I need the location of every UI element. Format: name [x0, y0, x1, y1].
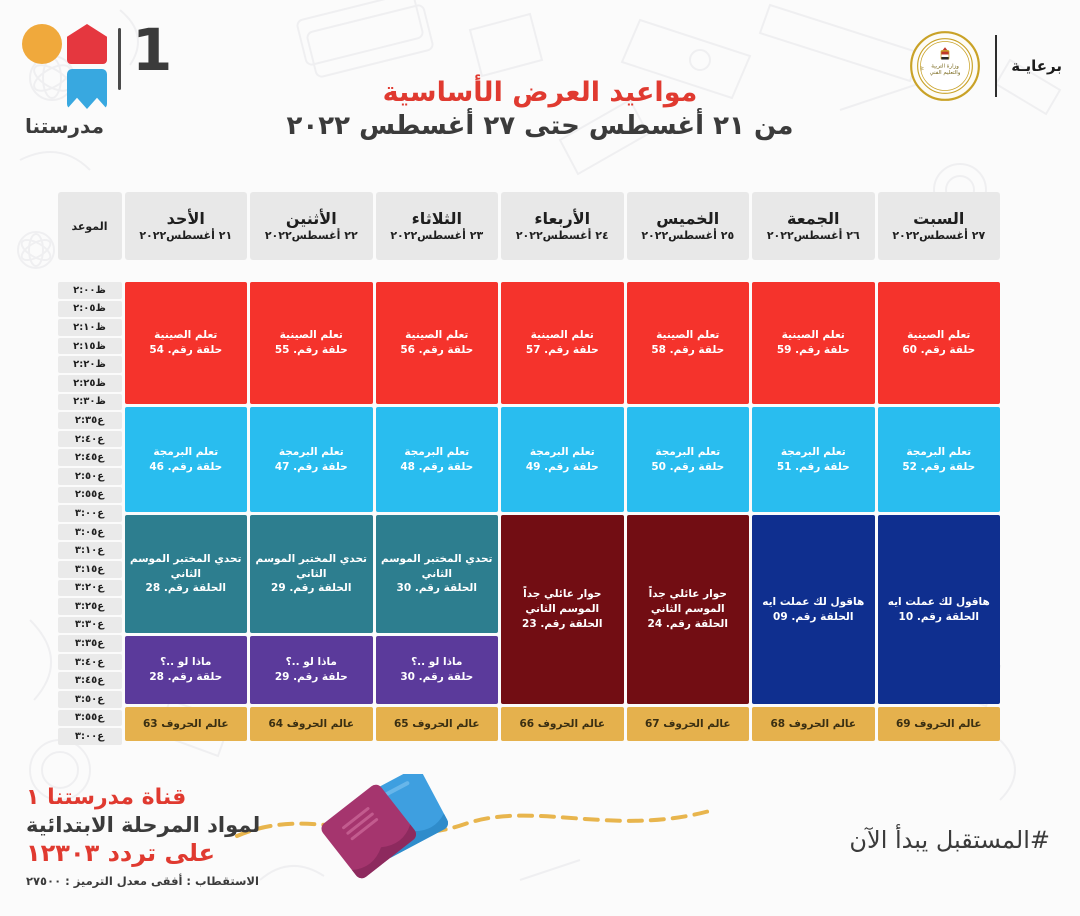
program-cell[interactable]: ماذا لو ..؟حلقة رقم. 30 — [376, 636, 499, 704]
program-title: تحدي المختبر الموسم الثاني — [380, 552, 495, 582]
program-cell[interactable]: حوار عائلي جداً الموسم الثانيالحلقة رقم.… — [501, 515, 624, 704]
program-episode: الحلقة رقم. 30 — [397, 581, 477, 596]
program-title: تعلم البرمجة — [655, 445, 720, 460]
program-title: تعلم الصينية — [656, 328, 719, 343]
page-footer: #المستقبل يبدأ الآن قناة مدرستنا ١ لمواد… — [0, 766, 1080, 916]
day-name: الثلاثاء — [412, 211, 462, 228]
time-slot: ع٢:٤٥ — [58, 449, 122, 466]
time-slot: ع٣:٠٠ — [58, 728, 122, 745]
logo-house-shape-icon — [67, 24, 107, 64]
time-slot: ع٣:٥٠ — [58, 691, 122, 708]
time-slot: ع٢:٤٠ — [58, 431, 122, 448]
program-cell[interactable]: عالم الحروف 64 — [250, 707, 373, 741]
time-slot: ع٣:٣٥ — [58, 635, 122, 652]
program-cell[interactable]: تعلم الصينيةحلقة رقم. 59 — [752, 282, 875, 404]
day-date: ٢٧ أغسطس٢٠٢٢ — [892, 230, 985, 242]
program-title: عالم الحروف 69 — [896, 717, 982, 732]
program-title: تعلم البرمجة — [781, 445, 846, 460]
schedule-header-row: السبت٢٧ أغسطس٢٠٢٢الجمعة٢٦ أغسطس٢٠٢٢الخمي… — [78, 192, 1000, 260]
program-episode: حلقة رقم. 49 — [526, 460, 599, 475]
day-header-7: الأحد٢١ أغسطس٢٠٢٢ — [125, 192, 248, 260]
time-slot: ع٣:٤٥ — [58, 672, 122, 689]
header-divider — [995, 35, 997, 97]
logo-bar-stack — [22, 69, 62, 109]
channel-title-line: قناة مدرستنا ١ — [26, 784, 260, 812]
program-cell[interactable]: تعلم الصينيةحلقة رقم. 55 — [250, 282, 373, 404]
program-episode: حلقة رقم. 29 — [275, 670, 348, 685]
program-cell[interactable]: تعلم الصينيةحلقة رقم. 60 — [878, 282, 1001, 404]
program-title: عالم الحروف 64 — [268, 717, 354, 732]
madrastna-logo: مدرستنا — [22, 24, 107, 138]
time-slot: ع٣:١٠ — [58, 542, 122, 559]
program-episode: الحلقة رقم. 29 — [271, 581, 351, 596]
day-name: الأحد — [167, 211, 205, 228]
day-column-5: تعلم الصينيةحلقة رقم. 56تعلم البرمجةحلقة… — [376, 282, 499, 745]
program-title: تعلم الصينية — [782, 328, 845, 343]
channel-frequency-block: قناة مدرستنا ١ لمواد المرحلة الابتدائية … — [26, 784, 260, 888]
time-slot: ع٣:١٥ — [58, 561, 122, 578]
program-episode: حلقة رقم. 46 — [149, 460, 222, 475]
time-slot: ظ٢:٣٠ — [58, 394, 122, 411]
program-title: تحدي المختبر الموسم الثاني — [129, 552, 244, 582]
program-cell[interactable]: تعلم البرمجةحلقة رقم. 51 — [752, 407, 875, 512]
day-name: الخميس — [656, 211, 719, 228]
program-title: تعلم البرمجة — [404, 445, 469, 460]
program-episode: حلقة رقم. 48 — [400, 460, 473, 475]
schedule-body: تعلم الصينيةحلقة رقم. 60تعلم البرمجةحلقة… — [78, 282, 1000, 745]
program-title: حوار عائلي جداً الموسم الثاني — [631, 587, 746, 617]
program-episode: الحلقة رقم. 10 — [899, 610, 979, 625]
program-cell[interactable]: عالم الحروف 65 — [376, 707, 499, 741]
time-slot: ع٣:٤٠ — [58, 654, 122, 671]
program-title: عالم الحروف 63 — [143, 717, 229, 732]
channel-name: مدرستنا — [25, 114, 104, 138]
time-slot: ع٣:٠٠ — [58, 505, 122, 522]
brand-divider — [118, 28, 121, 90]
program-title: عالم الحروف 65 — [394, 717, 480, 732]
program-episode: حلقة رقم. 54 — [149, 343, 222, 358]
day-date: ٢٤ أغسطس٢٠٢٢ — [516, 230, 609, 242]
time-slot: ظ٢:٠٠ — [58, 282, 122, 299]
program-title: عالم الحروف 68 — [770, 717, 856, 732]
day-column-4: تعلم الصينيةحلقة رقم. 57تعلم البرمجةحلقة… — [501, 282, 624, 745]
page-header: وزارة التربية والتعليم الفني EDUCATION A… — [0, 0, 1080, 180]
program-episode: حلقة رقم. 58 — [651, 343, 724, 358]
program-title: تعلم الصينية — [907, 328, 970, 343]
program-cell[interactable]: تحدي المختبر الموسم الثانيالحلقة رقم. 30 — [376, 515, 499, 633]
program-title: تعلم البرمجة — [906, 445, 971, 460]
program-cell[interactable]: عالم الحروف 63 — [125, 707, 248, 741]
day-column-2: تعلم الصينيةحلقة رقم. 59تعلم البرمجةحلقة… — [752, 282, 875, 745]
time-column-header: الموعد — [58, 192, 122, 260]
svg-text:وزارة التربية: وزارة التربية — [931, 63, 959, 69]
program-episode: حلقة رقم. 56 — [400, 343, 473, 358]
day-name: الأثنين — [286, 211, 337, 228]
infographic-page: وزارة التربية والتعليم الفني EDUCATION A… — [0, 0, 1080, 916]
program-cell[interactable]: ماذا لو ..؟حلقة رقم. 29 — [250, 636, 373, 704]
program-cell[interactable]: عالم الحروف 68 — [752, 707, 875, 741]
program-cell[interactable]: تعلم الصينيةحلقة رقم. 54 — [125, 282, 248, 404]
program-title: تعلم البرمجة — [279, 445, 344, 460]
time-slot: ظ٢:٢٥ — [58, 375, 122, 392]
logo-circle-shape-icon — [22, 24, 62, 64]
day-date: ٢٦ أغسطس٢٠٢٢ — [767, 230, 860, 242]
program-title: تعلم الصينية — [405, 328, 468, 343]
program-title: حوار عائلي جداً الموسم الثاني — [505, 587, 620, 617]
program-episode: حلقة رقم. 52 — [902, 460, 975, 475]
program-episode: الحلقة رقم. 24 — [648, 617, 728, 632]
campaign-hashtag: #المستقبل يبدأ الآن — [849, 826, 1050, 854]
day-header-2: الجمعة٢٦ أغسطس٢٠٢٢ — [752, 192, 875, 260]
time-slot: ع٢:٥٥ — [58, 487, 122, 504]
program-cell[interactable]: تعلم الصينيةحلقة رقم. 56 — [376, 282, 499, 404]
program-cell[interactable]: هاقول لك عملت ايهالحلقة رقم. 09 — [752, 515, 875, 704]
program-episode: الحلقة رقم. 09 — [773, 610, 853, 625]
program-title: تحدي المختبر الموسم الثاني — [254, 552, 369, 582]
program-cell[interactable]: حوار عائلي جداً الموسم الثانيالحلقة رقم.… — [627, 515, 750, 704]
time-slot: ع٣:٥٥ — [58, 710, 122, 727]
program-episode: حلقة رقم. 55 — [275, 343, 348, 358]
channel-technical-line: الاستقطاب : أفقى معدل الترميز : ٢٧٥٠٠ — [26, 874, 260, 888]
program-episode: حلقة رقم. 28 — [149, 670, 222, 685]
program-cell[interactable]: عالم الحروف 67 — [627, 707, 750, 741]
channel-brand-block: 1 مدرستنا — [22, 24, 172, 138]
day-header-4: الأربعاء٢٤ أغسطس٢٠٢٢ — [501, 192, 624, 260]
day-header-5: الثلاثاء٢٣ أغسطس٢٠٢٢ — [376, 192, 499, 260]
day-date: ٢٣ أغسطس٢٠٢٢ — [390, 230, 483, 242]
program-cell[interactable]: عالم الحروف 66 — [501, 707, 624, 741]
program-episode: حلقة رقم. 51 — [777, 460, 850, 475]
program-title: تعلم البرمجة — [530, 445, 595, 460]
time-slot: ع٣:٣٠ — [58, 617, 122, 634]
program-cell[interactable]: تحدي المختبر الموسم الثانيالحلقة رقم. 28 — [125, 515, 248, 633]
day-name: السبت — [913, 211, 964, 228]
program-title: تعلم الصينية — [280, 328, 343, 343]
day-header-1: السبت٢٧ أغسطس٢٠٢٢ — [878, 192, 1001, 260]
program-episode: حلقة رقم. 60 — [902, 343, 975, 358]
program-cell[interactable]: تعلم البرمجةحلقة رقم. 47 — [250, 407, 373, 512]
sponsor-label: برعايـة — [1011, 57, 1062, 75]
program-episode: حلقة رقم. 30 — [400, 670, 473, 685]
time-slot-column: ظ٢:٠٠ظ٢:٠٥ظ٢:١٠ظ٢:١٥ظ٢:٢٠ظ٢:٢٥ظ٢:٣٠ع٢:٣٥… — [58, 282, 122, 745]
day-name: الأربعاء — [534, 211, 590, 228]
program-title: هاقول لك عملت ايه — [888, 595, 990, 610]
stacked-books-illustration-icon — [300, 774, 485, 884]
program-cell[interactable]: عالم الحروف 69 — [878, 707, 1001, 741]
day-column-1: تعلم الصينيةحلقة رقم. 60تعلم البرمجةحلقة… — [878, 282, 1001, 745]
program-cell[interactable]: تعلم البرمجةحلقة رقم. 48 — [376, 407, 499, 512]
program-title: ماذا لو ..؟ — [160, 655, 211, 670]
program-title: تعلم الصينية — [531, 328, 594, 343]
program-title: هاقول لك عملت ايه — [762, 595, 864, 610]
program-cell[interactable]: تعلم البرمجةحلقة رقم. 49 — [501, 407, 624, 512]
ministry-of-education-seal-icon: وزارة التربية والتعليم الفني EDUCATION A… — [909, 30, 981, 102]
time-slot: ع٣:٢٠ — [58, 580, 122, 597]
program-cell[interactable]: تعلم البرمجةحلقة رقم. 52 — [878, 407, 1001, 512]
program-title: عالم الحروف 67 — [645, 717, 731, 732]
program-episode: حلقة رقم. 50 — [651, 460, 724, 475]
day-column-6: تعلم الصينيةحلقة رقم. 55تعلم البرمجةحلقة… — [250, 282, 373, 745]
program-title: تعلم الصينية — [154, 328, 217, 343]
day-date: ٢١ أغسطس٢٠٢٢ — [139, 230, 232, 242]
program-episode: حلقة رقم. 59 — [777, 343, 850, 358]
program-episode: الحلقة رقم. 23 — [522, 617, 602, 632]
schedule-table: السبت٢٧ أغسطس٢٠٢٢الجمعة٢٦ أغسطس٢٠٢٢الخمي… — [78, 192, 1000, 745]
program-cell[interactable]: تحدي المختبر الموسم الثانيالحلقة رقم. 29 — [250, 515, 373, 633]
program-title: تعلم البرمجة — [153, 445, 218, 460]
program-title: ماذا لو ..؟ — [411, 655, 462, 670]
program-cell[interactable]: تعلم الصينيةحلقة رقم. 57 — [501, 282, 624, 404]
day-header-3: الخميس٢٥ أغسطس٢٠٢٢ — [627, 192, 750, 260]
time-slot: ظ٢:٢٠ — [58, 356, 122, 373]
time-slot: ظ٢:١٠ — [58, 319, 122, 336]
time-slot: ظ٢:٠٥ — [58, 301, 122, 318]
program-episode: حلقة رقم. 47 — [275, 460, 348, 475]
logo-shape-grid — [22, 24, 107, 109]
logo-bookmark-shape-icon — [67, 69, 107, 109]
day-name: الجمعة — [787, 211, 839, 228]
program-cell[interactable]: هاقول لك عملت ايهالحلقة رقم. 10 — [878, 515, 1001, 704]
day-date: ٢٥ أغسطس٢٠٢٢ — [641, 230, 734, 242]
channel-frequency-line: على تردد ١٢٣٠٣ — [26, 838, 260, 869]
time-slot: ع٣:٢٥ — [58, 598, 122, 615]
time-slot: ع٢:٣٥ — [58, 412, 122, 429]
program-episode: الحلقة رقم. 28 — [146, 581, 226, 596]
program-cell[interactable]: تعلم البرمجةحلقة رقم. 50 — [627, 407, 750, 512]
channel-number: 1 — [132, 24, 172, 77]
program-cell[interactable]: ماذا لو ..؟حلقة رقم. 28 — [125, 636, 248, 704]
time-slot: ع٣:٠٥ — [58, 524, 122, 541]
program-cell[interactable]: تعلم الصينيةحلقة رقم. 58 — [627, 282, 750, 404]
time-slot: ع٢:٥٠ — [58, 468, 122, 485]
day-header-6: الأثنين٢٢ أغسطس٢٠٢٢ — [250, 192, 373, 260]
program-title: عالم الحروف 66 — [519, 717, 605, 732]
program-title: ماذا لو ..؟ — [286, 655, 337, 670]
channel-audience-line: لمواد المرحلة الابتدائية — [26, 812, 260, 838]
program-episode: حلقة رقم. 57 — [526, 343, 599, 358]
day-date: ٢٢ أغسطس٢٠٢٢ — [265, 230, 358, 242]
ministry-sponsor-block: وزارة التربية والتعليم الفني EDUCATION A… — [909, 30, 1062, 102]
day-column-7: تعلم الصينيةحلقة رقم. 54تعلم البرمجةحلقة… — [125, 282, 248, 745]
day-column-3: تعلم الصينيةحلقة رقم. 58تعلم البرمجةحلقة… — [627, 282, 750, 745]
time-slot: ظ٢:١٥ — [58, 338, 122, 355]
program-cell[interactable]: تعلم البرمجةحلقة رقم. 46 — [125, 407, 248, 512]
svg-text:والتعليم الفني: والتعليم الفني — [930, 70, 961, 76]
